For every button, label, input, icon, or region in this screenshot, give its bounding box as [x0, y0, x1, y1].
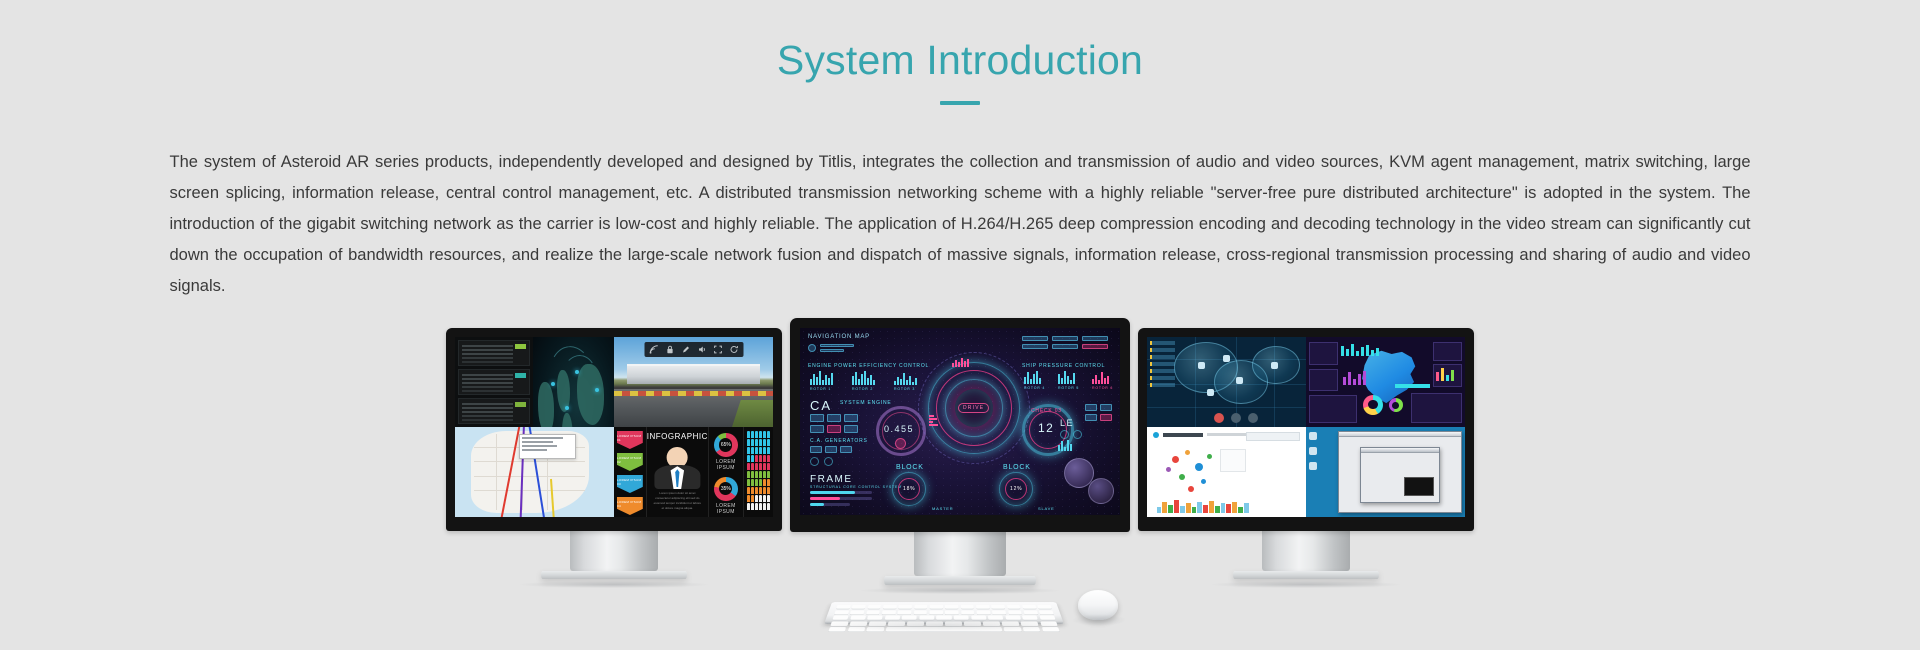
status-tag — [515, 344, 526, 349]
hud-button[interactable] — [825, 446, 837, 453]
hud-slider[interactable] — [810, 503, 850, 506]
site-marker[interactable] — [1236, 377, 1243, 384]
document-card[interactable] — [458, 340, 530, 366]
center-monitor-bezel: NAVIGATION MAP ENGINE POWER EFFICIENCY C… — [790, 318, 1130, 532]
map-tooltip — [519, 434, 576, 459]
key[interactable] — [882, 610, 896, 614]
key[interactable] — [899, 605, 913, 609]
pictogram — [763, 471, 766, 478]
right-monitor-stand-base — [1233, 571, 1379, 579]
hud-knob[interactable] — [810, 457, 819, 466]
node-dot[interactable] — [595, 388, 599, 392]
pictogram — [751, 463, 754, 470]
hud-status-chip[interactable] — [1052, 336, 1078, 341]
donut-caption: LOREM IPSUM — [709, 503, 743, 515]
product-showcase-scene: LOREM IPSUM 01 LOREM IPSUM 02 LOREM IPSU… — [0, 318, 1920, 650]
hud-status-chip[interactable] — [1022, 344, 1048, 349]
center-monitor[interactable]: NAVIGATION MAP ENGINE POWER EFFICIENCY C… — [790, 318, 1130, 594]
hud-header-chip[interactable] — [820, 344, 854, 347]
graph-node[interactable] — [1188, 486, 1194, 492]
hud-gauge-left-value: 0.455 — [884, 424, 914, 434]
pictogram — [763, 463, 766, 470]
pictogram — [747, 455, 750, 462]
key[interactable] — [945, 610, 958, 614]
document-panel[interactable] — [455, 337, 533, 427]
pen-icon[interactable] — [681, 345, 690, 354]
right-monitor-stand-neck — [1262, 531, 1350, 571]
ribbon-badge[interactable]: LOREM IPSUM 03 — [617, 475, 643, 493]
hud-slider[interactable] — [810, 497, 872, 500]
person-illustration — [647, 441, 708, 491]
pictogram — [755, 487, 758, 494]
keyboard-row[interactable] — [834, 610, 1053, 614]
radar-action-button[interactable] — [1231, 413, 1241, 423]
key[interactable] — [991, 605, 1005, 609]
radar-sidebar-row[interactable] — [1150, 362, 1175, 366]
hud-status-chip[interactable] — [1082, 336, 1108, 341]
right-monitor[interactable] — [1138, 328, 1474, 588]
panel-document-worldmap[interactable] — [455, 337, 614, 427]
report-toolbar-button[interactable] — [1246, 432, 1300, 441]
pictogram — [759, 479, 762, 486]
dashboard-donut — [1363, 395, 1383, 415]
document-card[interactable] — [458, 369, 530, 395]
pictogram — [759, 487, 762, 494]
pictogram — [755, 463, 758, 470]
infographic-body-text: Lorem ipsum dolor sit amet consectetur a… — [647, 491, 708, 510]
hud-header-label: NAVIGATION MAP — [808, 334, 870, 340]
dashboard-panel[interactable] — [1309, 369, 1338, 391]
keyboard-row[interactable] — [836, 605, 1051, 609]
hud-button[interactable] — [810, 446, 822, 453]
window-titlebar[interactable] — [1361, 448, 1439, 453]
city-map-panel[interactable] — [455, 427, 614, 517]
intro-paragraph: The system of Asteroid AR series product… — [170, 147, 1751, 302]
site-marker[interactable] — [1198, 362, 1205, 369]
right-monitor-screen[interactable] — [1147, 337, 1465, 517]
pictogram — [747, 463, 750, 470]
tooltip-line — [522, 449, 548, 451]
hud-block-left-caption: MASTER — [932, 506, 953, 511]
radar-sidebar-row[interactable] — [1150, 341, 1175, 345]
dashboard-panel[interactable] — [1309, 342, 1338, 365]
ribbon-label: LOREM IPSUM 03 — [617, 478, 643, 486]
radar-sidebar-row[interactable] — [1150, 383, 1175, 387]
hud-meter-label: ROTOR 5 — [1058, 386, 1079, 390]
pictogram — [755, 431, 758, 438]
report-bar-chart — [1157, 498, 1249, 512]
center-monitor-shadow — [860, 587, 1060, 594]
key[interactable] — [914, 605, 927, 609]
infographic-title: INFOGRAPHIC — [647, 427, 708, 441]
kerb-stripe — [614, 391, 773, 396]
key[interactable] — [883, 605, 897, 609]
key[interactable] — [961, 610, 975, 614]
key[interactable] — [992, 610, 1006, 614]
pictogram — [755, 447, 758, 454]
signal-icon[interactable] — [649, 345, 658, 354]
key[interactable] — [914, 610, 928, 614]
pictogram — [747, 479, 750, 486]
ribbon-label: LOREM IPSUM 02 — [617, 456, 643, 464]
fullscreen-icon[interactable] — [713, 345, 722, 354]
graph-node[interactable] — [1185, 450, 1190, 455]
pictogram — [763, 503, 766, 510]
tooltip-line — [522, 445, 558, 447]
donut-value: 35% — [714, 486, 738, 492]
page-header: System Introduction — [0, 0, 1920, 105]
dialog-window[interactable] — [1360, 447, 1440, 503]
brand-dot-icon — [1153, 432, 1159, 438]
key[interactable] — [945, 605, 958, 609]
graph-node[interactable] — [1195, 463, 1203, 471]
tooltip-line — [522, 441, 554, 443]
pictogram — [767, 479, 770, 486]
pictogram — [755, 439, 758, 446]
hud-sphere[interactable] — [1088, 478, 1114, 504]
intro-section: The system of Asteroid AR series product… — [168, 147, 1753, 302]
hud-gauge-right-value: 12 — [1038, 421, 1054, 435]
desktop-icon[interactable] — [1309, 447, 1317, 455]
refresh-icon[interactable] — [729, 345, 738, 354]
donut-caption: LOREM IPSUM — [709, 459, 743, 471]
hud-frame-sub: STRUCTURAL CORE CONTROL SYSTEM — [810, 485, 902, 489]
pictogram — [747, 487, 750, 494]
hud-gauge-right-alert: CHECK 03 — [1031, 408, 1062, 414]
left-monitor[interactable]: LOREM IPSUM 01 LOREM IPSUM 02 LOREM IPSU… — [446, 328, 782, 588]
left-monitor-stand-base — [541, 571, 687, 579]
pictogram — [751, 431, 754, 438]
hud-gauge-left-dot[interactable] — [895, 438, 906, 449]
key[interactable] — [866, 610, 880, 614]
key[interactable] — [898, 610, 912, 614]
pictogram — [767, 447, 770, 454]
center-monitor-stand-base — [884, 576, 1036, 585]
hud-core-meter — [929, 415, 938, 426]
pictogram — [767, 431, 770, 438]
pictogram — [751, 455, 754, 462]
hud-button[interactable] — [844, 425, 858, 433]
document-card[interactable] — [458, 398, 530, 424]
pictogram — [755, 503, 758, 510]
ribbon-label: LOREM IPSUM 01 — [617, 434, 643, 442]
network-graph-page[interactable] — [1147, 427, 1306, 517]
donut-chart: 35% — [714, 477, 738, 501]
left-monitor-shadow — [519, 581, 709, 588]
coverage-radar-panel[interactable] — [1147, 337, 1306, 427]
hud-button[interactable] — [1085, 414, 1097, 421]
pictogram — [763, 431, 766, 438]
preview-thumbnail — [1404, 477, 1433, 495]
dashboard-donut — [1389, 398, 1403, 412]
desktop-icon[interactable] — [1309, 432, 1317, 440]
radar-sidebar-row[interactable] — [1150, 369, 1175, 373]
camera-photo-panel[interactable] — [614, 337, 773, 427]
pictogram — [747, 439, 750, 446]
hud-button[interactable] — [1100, 414, 1112, 421]
radar-sidebar-row[interactable] — [1150, 348, 1175, 352]
hud-meter-label: ROTOR 1 — [810, 387, 831, 391]
key[interactable] — [930, 605, 943, 609]
hud-slider[interactable] — [810, 491, 872, 494]
pictogram — [759, 495, 762, 502]
hud-meter-label: ROTOR 3 — [894, 387, 915, 391]
hud-button[interactable] — [844, 414, 858, 422]
hud-status-chip[interactable] — [1022, 336, 1048, 341]
graph-node[interactable] — [1179, 474, 1185, 480]
tooltip-line — [522, 437, 563, 439]
hud-meter — [1092, 371, 1109, 384]
ribbon-badge[interactable]: LOREM IPSUM 04 — [617, 497, 643, 515]
pictogram — [747, 431, 750, 438]
hud-core-meter — [952, 358, 969, 367]
pictogram — [747, 495, 750, 502]
left-monitor-stand-neck — [570, 531, 658, 571]
pictogram — [755, 471, 758, 478]
pictogram — [767, 471, 770, 478]
pictogram — [759, 463, 762, 470]
key[interactable] — [961, 605, 974, 609]
hud-level-label: LE — [1060, 418, 1074, 428]
key[interactable] — [832, 616, 848, 620]
pictogram — [767, 455, 770, 462]
pictogram — [755, 455, 758, 462]
infographic-main: INFOGRAPHIC Lorem ipsum dolor sit amet c… — [646, 427, 709, 517]
pictogram — [755, 495, 758, 502]
key[interactable] — [850, 610, 864, 614]
hud-button[interactable] — [827, 425, 841, 433]
radar-action-buttons[interactable] — [1214, 413, 1258, 423]
right-monitor-bezel — [1138, 328, 1474, 531]
report-title-bar — [1163, 433, 1203, 437]
report-list[interactable] — [1255, 445, 1300, 512]
dashboard-panel[interactable] — [1309, 395, 1357, 424]
dashboard-panel[interactable] — [1433, 342, 1462, 362]
hud-button[interactable] — [810, 414, 824, 422]
radar-sidebar-row[interactable] — [1150, 376, 1175, 380]
key[interactable] — [1008, 610, 1022, 614]
street-line — [496, 434, 497, 510]
speaker-icon[interactable] — [697, 345, 706, 354]
hud-status-chip[interactable] — [1082, 344, 1108, 349]
desktop-icon[interactable] — [1309, 462, 1317, 470]
key[interactable] — [852, 605, 866, 609]
hud-brand: CA — [810, 398, 832, 413]
pictogram — [755, 479, 758, 486]
world-map-panel[interactable] — [533, 337, 614, 427]
key[interactable] — [834, 610, 849, 614]
pictogram — [763, 479, 766, 486]
ribbon-column: LOREM IPSUM 01 LOREM IPSUM 02 LOREM IPSU… — [614, 427, 646, 517]
pictogram — [751, 479, 754, 486]
pictogram — [759, 471, 762, 478]
donut-column: 65% LOREM IPSUM 35% LOREM IPSUM — [709, 427, 744, 517]
cad-desktop-panel[interactable] — [1306, 427, 1465, 517]
page-root: System Introduction The system of Astero… — [0, 0, 1920, 650]
hud-knob[interactable] — [824, 457, 833, 466]
graph-detail-card[interactable] — [1220, 449, 1245, 472]
key[interactable] — [1037, 605, 1051, 609]
pictogram — [763, 487, 766, 494]
hud-meter — [852, 371, 875, 385]
pictogram — [767, 503, 770, 510]
hud-dashboard[interactable]: NAVIGATION MAP ENGINE POWER EFFICIENCY C… — [800, 328, 1120, 515]
title-underline — [940, 101, 980, 105]
hud-meter-label: ROTOR 2 — [852, 387, 873, 391]
pictogram — [767, 487, 770, 494]
graph-node[interactable] — [1201, 479, 1206, 484]
hud-meter — [894, 371, 917, 385]
site-marker[interactable] — [1271, 362, 1278, 369]
dashboard-panel[interactable] — [1411, 393, 1462, 424]
key[interactable] — [1039, 616, 1055, 620]
pictogram — [751, 487, 754, 494]
camera-toolbar[interactable] — [644, 342, 743, 357]
ribbon-badge[interactable]: LOREM IPSUM 02 — [617, 453, 643, 471]
key[interactable] — [1007, 605, 1021, 609]
pictogram — [751, 471, 754, 478]
pictogram — [751, 439, 754, 446]
site-marker[interactable] — [1223, 355, 1230, 362]
hud-generators-label: C.A. GENERATORS — [810, 438, 868, 444]
left-monitor-bezel: LOREM IPSUM 01 LOREM IPSUM 02 LOREM IPSU… — [446, 328, 782, 531]
key[interactable] — [1039, 610, 1054, 614]
street-line — [474, 461, 585, 462]
hud-block-right-value: 12% — [1010, 486, 1022, 492]
desktop-icon-column[interactable] — [1309, 432, 1317, 470]
status-tag — [515, 373, 526, 378]
hud-meter — [1058, 440, 1072, 451]
dashboard-bar-chart — [1343, 371, 1366, 385]
hud-button[interactable] — [810, 425, 824, 433]
hud-knob[interactable] — [1060, 430, 1069, 439]
pictogram — [763, 439, 766, 446]
lock-icon[interactable] — [665, 345, 674, 354]
pictogram — [767, 439, 770, 446]
dashboard-bar-chart — [1436, 368, 1454, 381]
pictogram — [747, 503, 750, 510]
radar-action-button[interactable] — [1248, 413, 1258, 423]
hud-section-left: ENGINE POWER EFFICIENCY CONTROL — [808, 363, 929, 369]
hud-frame-label: FRAME — [810, 474, 853, 485]
key[interactable] — [867, 605, 881, 609]
hud-header-chip[interactable] — [820, 349, 844, 352]
status-tag — [515, 402, 526, 407]
hud-section-right: SHIP PRESSURE CONTROL — [1022, 363, 1105, 369]
key[interactable] — [836, 605, 850, 609]
radar-action-button[interactable] — [1214, 413, 1224, 423]
site-marker[interactable] — [1207, 389, 1214, 396]
hud-meter — [810, 371, 833, 385]
hud-block-right-caption: SLAVE — [1038, 506, 1055, 511]
center-monitor-stand-neck — [914, 532, 1006, 576]
pictogram — [747, 447, 750, 454]
radar-sidebar-row[interactable] — [1150, 355, 1175, 359]
key[interactable] — [929, 610, 942, 614]
street-line — [474, 490, 585, 491]
page-title: System Introduction — [0, 38, 1920, 83]
pictogram — [767, 495, 770, 502]
street-line — [474, 476, 585, 477]
graph-node[interactable] — [1172, 456, 1179, 463]
graph-node[interactable] — [1207, 454, 1212, 459]
hud-knob[interactable] — [1073, 430, 1082, 439]
dashboard-bar-chart — [1341, 344, 1379, 356]
donut-chart: 65% — [714, 433, 738, 457]
hud-button[interactable] — [827, 414, 841, 422]
pictogram-column — [744, 427, 773, 517]
pictogram — [759, 503, 762, 510]
hud-meter-label: ROTOR 6 — [1092, 386, 1113, 390]
pictogram — [763, 447, 766, 454]
infographic-panel[interactable]: LOREM IPSUM 01 LOREM IPSUM 02 LOREM IPSU… — [614, 427, 773, 517]
china-map-dashboard[interactable] — [1306, 337, 1465, 427]
hud-header-chip[interactable] — [808, 344, 816, 352]
pictogram — [759, 447, 762, 454]
graph-node[interactable] — [1166, 467, 1171, 472]
window-titlebar[interactable] — [1339, 432, 1461, 437]
pictogram — [751, 447, 754, 454]
report-header — [1153, 432, 1259, 438]
key[interactable] — [1023, 610, 1037, 614]
hud-status-chip[interactable] — [1052, 344, 1078, 349]
pictogram — [751, 503, 754, 510]
hud-meter-label: ROTOR 4 — [1024, 386, 1045, 390]
hud-button[interactable] — [1085, 404, 1097, 411]
key[interactable] — [1022, 605, 1036, 609]
hud-meter — [1058, 371, 1075, 384]
progress-bar — [1395, 384, 1430, 388]
pictogram — [759, 439, 762, 446]
pictogram — [751, 495, 754, 502]
pictogram — [759, 431, 762, 438]
hud-button[interactable] — [1100, 404, 1112, 411]
hud-block-left-label: BLOCK — [896, 464, 924, 471]
key[interactable] — [977, 610, 991, 614]
donut-value: 65% — [714, 442, 738, 448]
ribbon-label: LOREM IPSUM 04 — [617, 500, 643, 508]
pictogram — [763, 455, 766, 462]
pictogram — [747, 471, 750, 478]
hud-meter — [1024, 371, 1041, 384]
ribbon-badge[interactable]: LOREM IPSUM 01 — [617, 431, 643, 449]
hud-brand-sub: SYSTEM ENGINE — [840, 400, 892, 406]
keyboard-shadow — [818, 618, 1072, 632]
pictogram — [759, 455, 762, 462]
pictogram — [767, 463, 770, 470]
key[interactable] — [976, 605, 990, 609]
left-monitor-screen[interactable]: LOREM IPSUM 01 LOREM IPSUM 02 LOREM IPSU… — [455, 337, 773, 517]
mouse-shadow — [1072, 614, 1126, 626]
hud-button[interactable] — [840, 446, 852, 453]
warehouse-building — [627, 364, 761, 384]
pictogram — [763, 495, 766, 502]
right-monitor-shadow — [1211, 581, 1401, 588]
radar-sidebar[interactable] — [1150, 341, 1175, 413]
hud-block-left-value: 18% — [903, 486, 915, 492]
hud-block-right-label: BLOCK — [1003, 464, 1031, 471]
hud-core-label: DRIVE — [958, 403, 989, 413]
center-monitor-screen[interactable]: NAVIGATION MAP ENGINE POWER EFFICIENCY C… — [800, 328, 1120, 515]
